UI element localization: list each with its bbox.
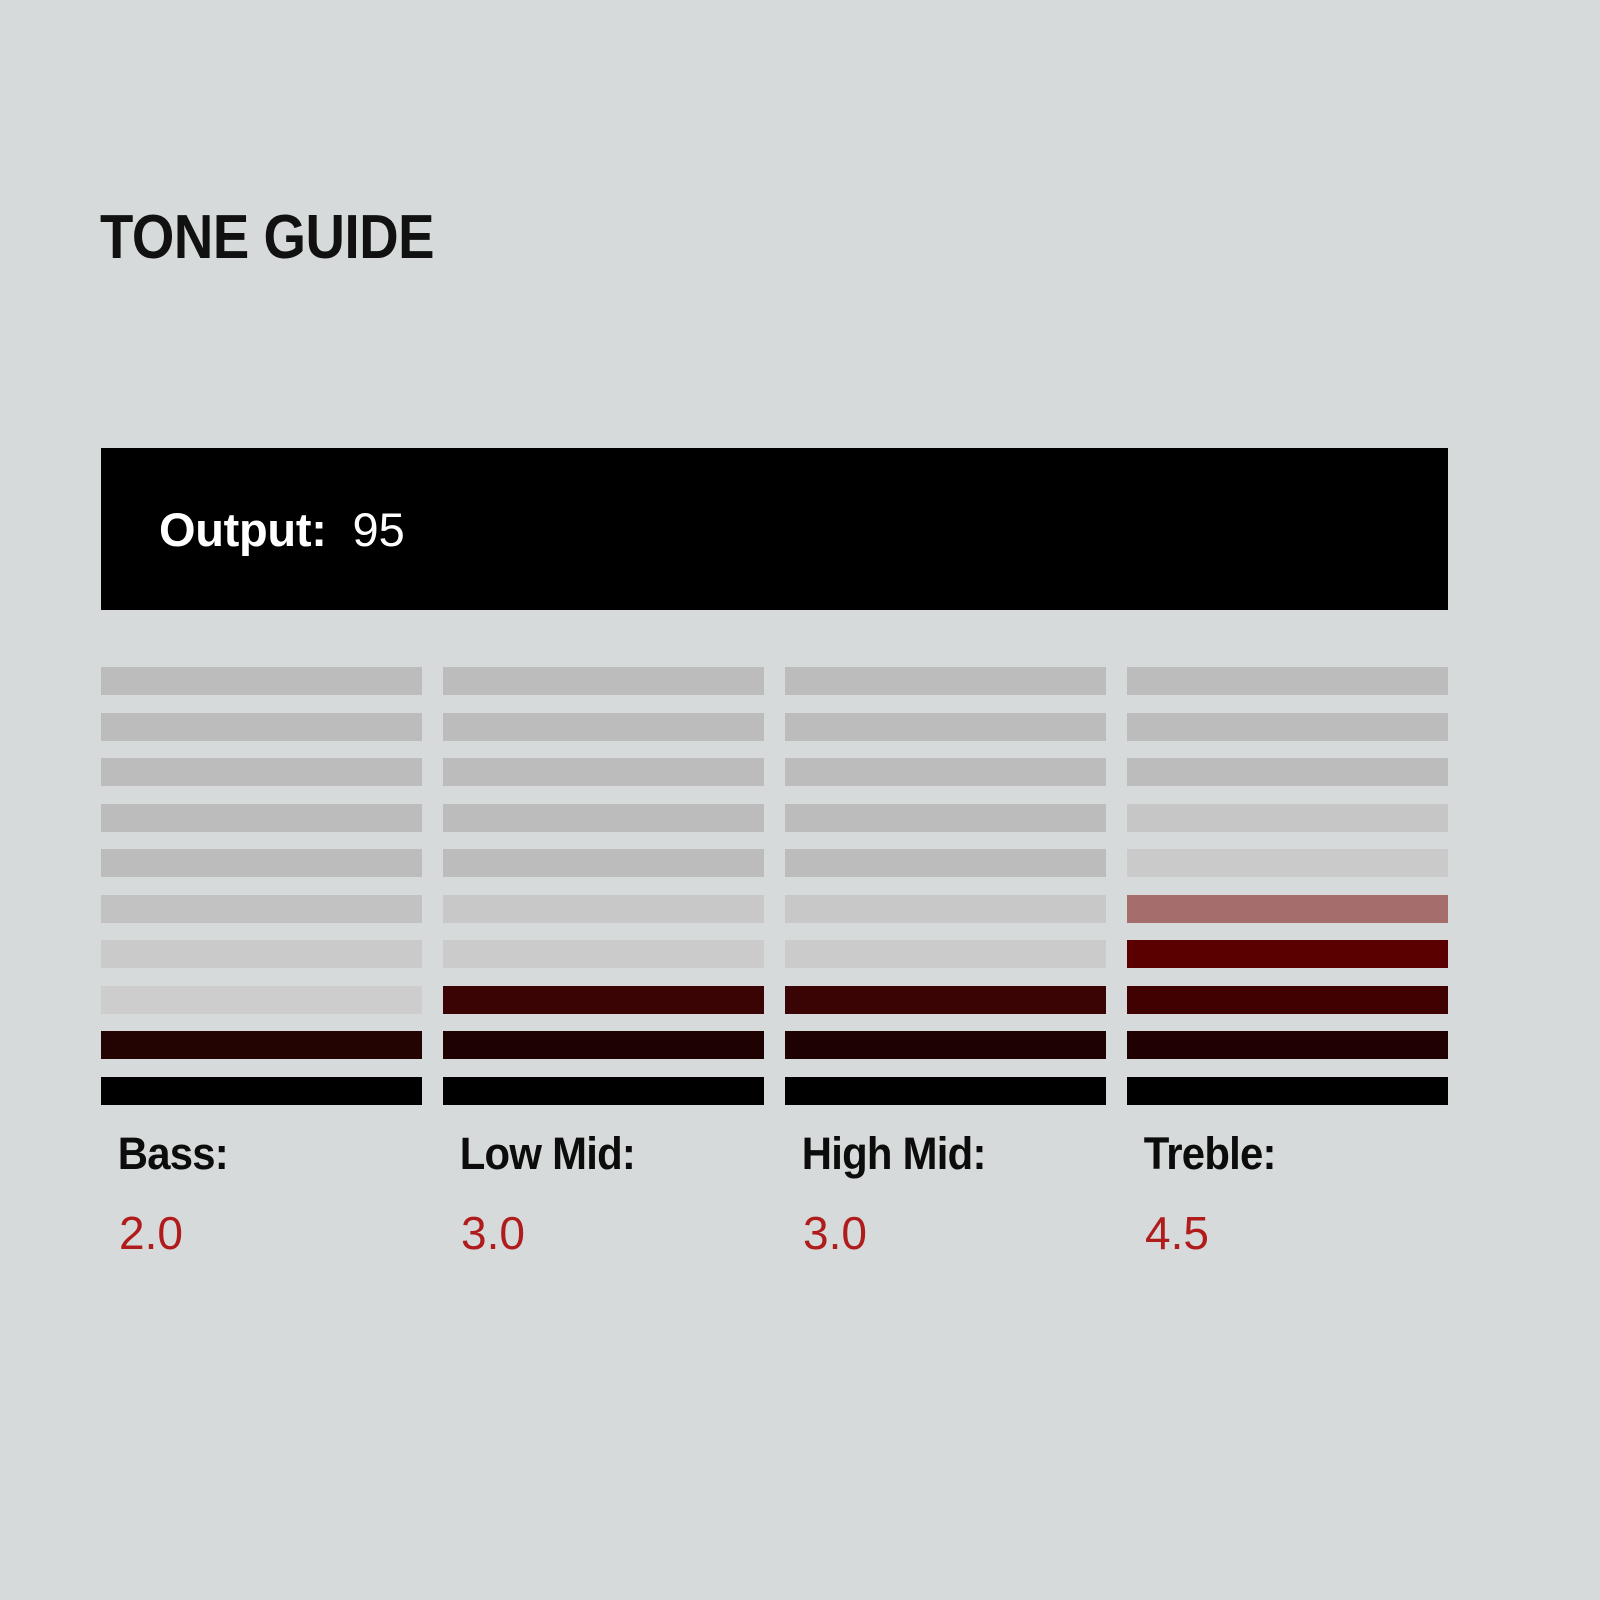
- meter-segment[interactable]: [443, 940, 764, 968]
- meter-segment[interactable]: [1127, 758, 1448, 786]
- meter-segment[interactable]: [1127, 849, 1448, 877]
- meter-segment[interactable]: [101, 940, 422, 968]
- meter-segment[interactable]: [785, 1031, 1106, 1059]
- meter-segment[interactable]: [785, 667, 1106, 695]
- band-name: High Mid:: [785, 1131, 1084, 1176]
- meter-segment[interactable]: [443, 804, 764, 832]
- meter-segment[interactable]: [443, 1077, 764, 1105]
- meter-segment[interactable]: [785, 758, 1106, 786]
- page-title: TONE GUIDE: [100, 207, 434, 269]
- meter-column[interactable]: [443, 667, 764, 1123]
- meter-segment[interactable]: [101, 1077, 422, 1105]
- band-label-cell: High Mid:3.0: [785, 1131, 1106, 1256]
- meter-segment[interactable]: [785, 849, 1106, 877]
- band-name: Bass:: [101, 1131, 400, 1176]
- tone-labels-row: Bass:2.0Low Mid:3.0High Mid:3.0Treble:4.…: [101, 1131, 1448, 1256]
- meter-segment[interactable]: [443, 758, 764, 786]
- meter-segment[interactable]: [101, 758, 422, 786]
- meter-segment[interactable]: [1127, 667, 1448, 695]
- meter-segment[interactable]: [101, 895, 422, 923]
- meter-segment[interactable]: [101, 1031, 422, 1059]
- meter-segment[interactable]: [101, 804, 422, 832]
- meter-segment[interactable]: [785, 895, 1106, 923]
- meter-segment[interactable]: [1127, 1031, 1448, 1059]
- band-value: 2.0: [101, 1210, 422, 1256]
- meter-segment[interactable]: [785, 804, 1106, 832]
- meter-segment[interactable]: [785, 986, 1106, 1014]
- output-label: Output:: [159, 502, 327, 557]
- output-readout: Output: 95: [101, 502, 405, 557]
- meter-segment[interactable]: [443, 895, 764, 923]
- meter-segment[interactable]: [101, 986, 422, 1014]
- tone-guide-panel: TONE GUIDE Output: 95 Bass:2.0Low Mid:3.…: [0, 0, 1600, 1600]
- meter-segment[interactable]: [443, 849, 764, 877]
- meter-segment[interactable]: [785, 713, 1106, 741]
- meter-segment[interactable]: [443, 1031, 764, 1059]
- band-label-cell: Low Mid:3.0: [443, 1131, 764, 1256]
- meter-segment[interactable]: [1127, 713, 1448, 741]
- band-value: 3.0: [785, 1210, 1106, 1256]
- meter-segment[interactable]: [101, 713, 422, 741]
- meter-segment[interactable]: [1127, 1077, 1448, 1105]
- meter-segment[interactable]: [443, 986, 764, 1014]
- meter-segment[interactable]: [1127, 986, 1448, 1014]
- band-name: Treble:: [1127, 1131, 1426, 1176]
- tone-meter-grid: [101, 667, 1448, 1123]
- meter-segment[interactable]: [101, 667, 422, 695]
- meter-segment[interactable]: [785, 1077, 1106, 1105]
- meter-segment[interactable]: [1127, 895, 1448, 923]
- band-value: 4.5: [1127, 1210, 1448, 1256]
- meter-segment[interactable]: [1127, 804, 1448, 832]
- output-banner: Output: 95: [101, 448, 1448, 610]
- band-label-cell: Bass:2.0: [101, 1131, 422, 1256]
- band-name: Low Mid:: [443, 1131, 742, 1176]
- meter-segment[interactable]: [785, 940, 1106, 968]
- meter-column[interactable]: [785, 667, 1106, 1123]
- meter-segment[interactable]: [443, 667, 764, 695]
- band-label-cell: Treble:4.5: [1127, 1131, 1448, 1256]
- band-value: 3.0: [443, 1210, 764, 1256]
- meter-segment[interactable]: [101, 849, 422, 877]
- output-value: 95: [353, 502, 405, 557]
- meter-column[interactable]: [101, 667, 422, 1123]
- meter-segment[interactable]: [1127, 940, 1448, 968]
- meter-column[interactable]: [1127, 667, 1448, 1123]
- meter-segment[interactable]: [443, 713, 764, 741]
